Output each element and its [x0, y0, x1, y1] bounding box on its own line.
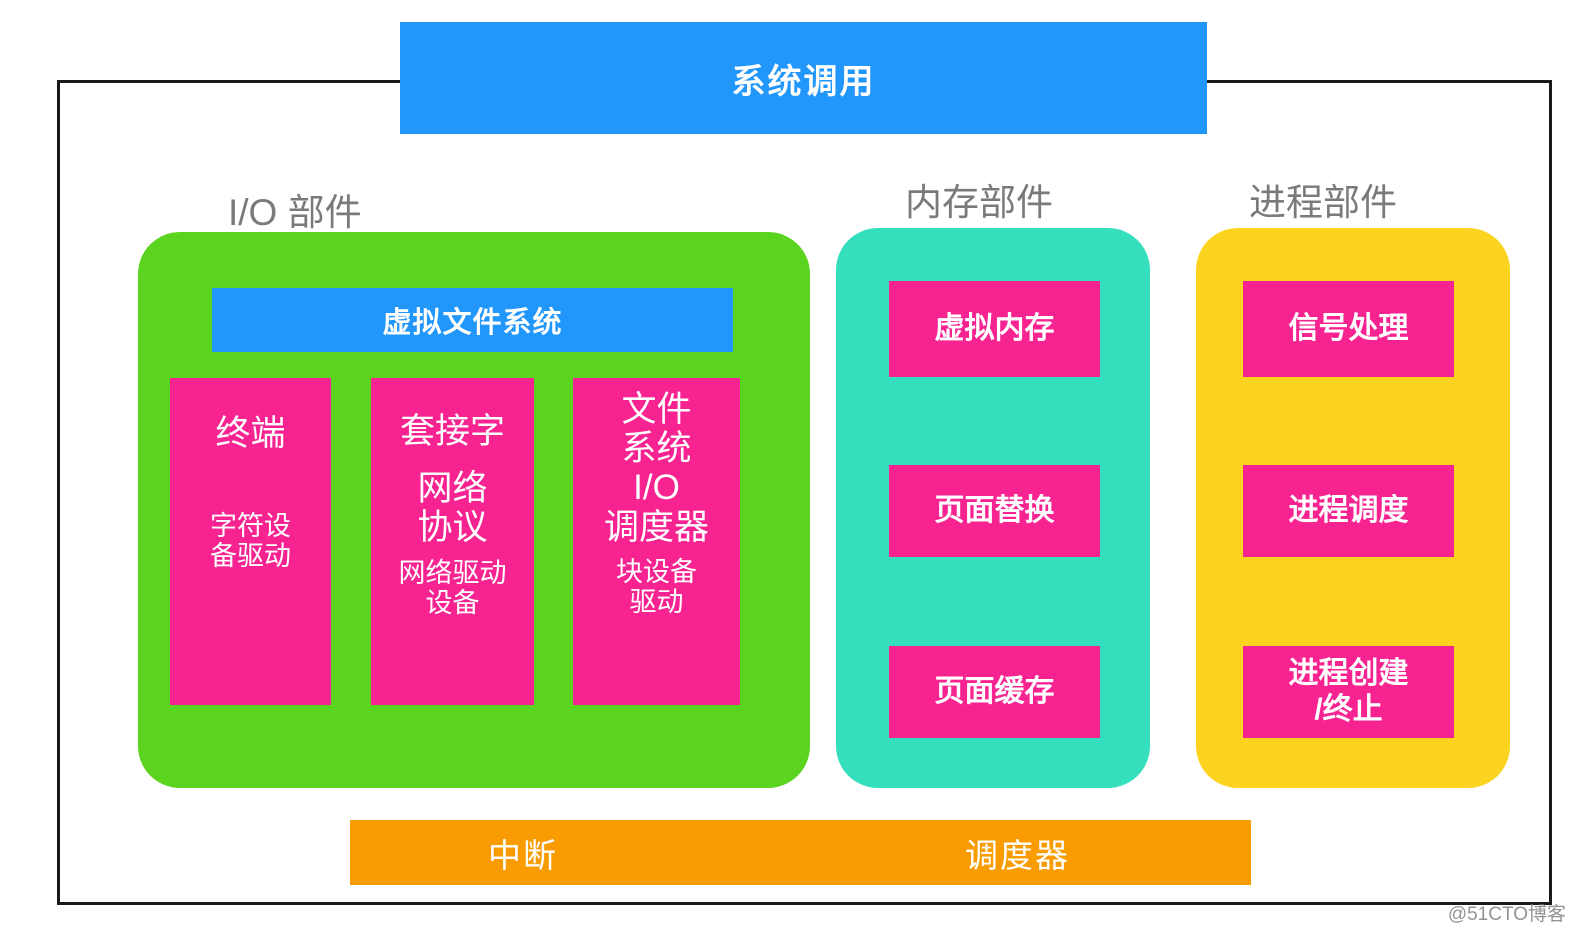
memory-block-page-replacement-label: 页面替换	[935, 493, 1055, 529]
virtual-file-system-bar: 虚拟文件系统	[212, 288, 733, 352]
interrupt-scheduler-bar: 中断 调度器	[350, 820, 1251, 885]
memory-block-page-replacement: 页面替换	[889, 465, 1100, 557]
memory-section-caption: 内存部件	[905, 172, 1053, 226]
io-column-socket: 套接字 网络 协议 网络驱动 设备	[371, 378, 534, 705]
io-column-socket-title: 套接字	[400, 412, 505, 451]
io-column-filesystem: 文件 系统 I/O 调度器 块设备 驱动	[573, 378, 740, 705]
process-block-create-terminate-label: 进程创建 /终止	[1289, 656, 1409, 728]
process-section-caption: 进程部件	[1249, 172, 1397, 226]
io-section-caption: I/O 部件	[228, 182, 362, 236]
io-column-socket-sub: 网络驱动 设备	[399, 558, 507, 618]
io-column-terminal-sub: 字符设 备驱动	[210, 511, 291, 571]
os-architecture-diagram: 系统调用 I/O 部件 内存部件 进程部件 虚拟文件系统 终端 字符设 备驱动 …	[0, 0, 1580, 936]
process-block-signal-handling: 信号处理	[1243, 281, 1454, 377]
io-column-filesystem-title: 文件 系统	[621, 390, 691, 468]
memory-block-page-cache: 页面缓存	[889, 646, 1100, 738]
watermark: @51CTO博客	[1448, 899, 1566, 926]
memory-block-page-cache-label: 页面缓存	[935, 674, 1055, 710]
process-block-create-terminate: 进程创建 /终止	[1243, 646, 1454, 738]
system-call-banner: 系统调用	[400, 22, 1207, 134]
process-block-scheduling: 进程调度	[1243, 465, 1454, 557]
virtual-file-system-label: 虚拟文件系统	[382, 299, 562, 341]
io-column-socket-mid: 网络 协议	[417, 469, 487, 547]
system-call-label: 系统调用	[732, 54, 876, 103]
io-column-filesystem-sub: 块设备 驱动	[616, 557, 697, 617]
process-block-scheduling-label: 进程调度	[1289, 493, 1409, 529]
io-column-terminal: 终端 字符设 备驱动	[170, 378, 331, 705]
scheduler-label: 调度器	[965, 820, 1070, 885]
process-block-signal-handling-label: 信号处理	[1289, 311, 1409, 347]
memory-block-virtual-memory: 虚拟内存	[889, 281, 1100, 377]
interrupt-label: 中断	[488, 820, 558, 885]
memory-block-virtual-memory-label: 虚拟内存	[935, 311, 1055, 347]
io-column-filesystem-mid: I/O 调度器	[604, 468, 709, 546]
io-column-terminal-title: 终端	[215, 414, 285, 453]
